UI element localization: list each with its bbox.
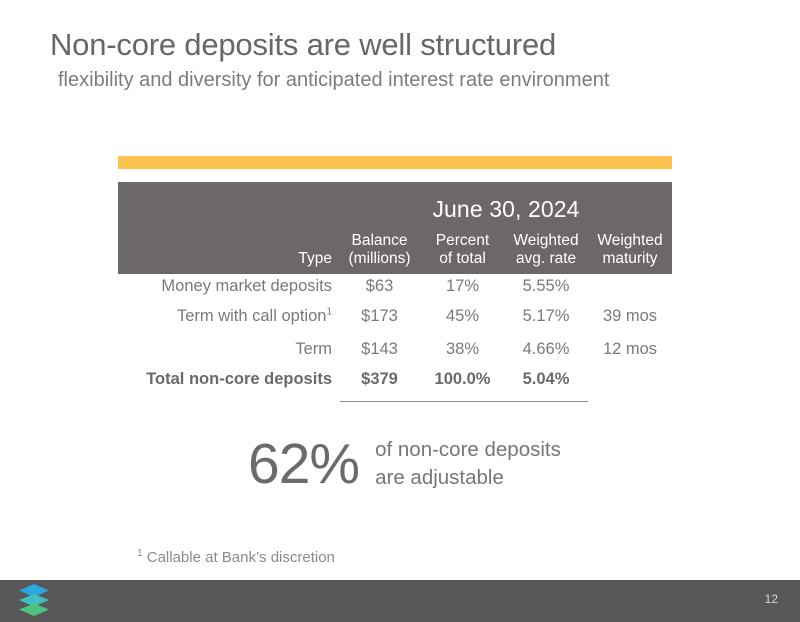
callout-percentage: 62% [248, 436, 359, 493]
callout-block: 62% of non-core deposits are adjustable [248, 436, 561, 493]
page-number: 12 [765, 592, 778, 606]
page-title: Non-core deposits are well structured [50, 28, 750, 63]
footnote-marker: 1 [137, 548, 143, 559]
column-header-balance: Balance (millions) [338, 232, 421, 267]
column-header-weighted-avg-rate: Weighted avg. rate [504, 232, 588, 267]
cell-type: Total non-core deposits [118, 370, 338, 389]
cell-type: Term with call option1 [118, 307, 338, 326]
callout-description: of non-core deposits are adjustable [375, 436, 561, 492]
column-header-weighted-maturity: Weighted maturity [588, 232, 672, 267]
footnote: 1 Callable at Bank’s discretion [137, 549, 335, 566]
page-subtitle: flexibility and diversity for anticipate… [58, 68, 750, 92]
footnote-marker: 1 [326, 307, 332, 318]
cell-percent: 45% [421, 307, 504, 326]
cell-type: Term [118, 340, 338, 359]
cell-balance: $63 [338, 277, 421, 296]
cell-weighted-avg-rate: 5.55% [504, 277, 588, 296]
company-logo-icon [18, 583, 50, 617]
cell-weighted-maturity: 12 mos [588, 340, 672, 359]
cell-percent: 100.0% [421, 370, 504, 389]
total-underline [340, 401, 588, 402]
footnote-text: Callable at Bank’s discretion [147, 549, 335, 566]
cell-percent: 17% [421, 277, 504, 296]
cell-balance: $173 [338, 307, 421, 326]
title-block: Non-core deposits are well structured fl… [50, 28, 750, 92]
accent-bar [118, 156, 672, 169]
footer-bar: 12 [0, 580, 800, 622]
cell-balance: $379 [338, 370, 421, 389]
deposits-table: June 30, 2024 Type Balance (millions) Pe… [118, 156, 672, 400]
cell-balance: $143 [338, 340, 421, 359]
cell-weighted-avg-rate: 5.17% [504, 307, 588, 326]
column-header-percent: Percent of total [421, 232, 504, 267]
table-row: Term with call option1 $173 45% 5.17% 39… [118, 307, 672, 337]
table-total-row: Total non-core deposits $379 100.0% 5.04… [118, 370, 672, 400]
table-row: Term $143 38% 4.66% 12 mos [118, 340, 672, 370]
cell-percent: 38% [421, 340, 504, 359]
cell-weighted-avg-rate: 4.66% [504, 340, 588, 359]
cell-weighted-avg-rate: 5.04% [504, 370, 588, 389]
table-header: June 30, 2024 Type Balance (millions) Pe… [118, 182, 672, 274]
table-column-headers: Type Balance (millions) Percent of total… [118, 232, 672, 267]
cell-type: Money market deposits [118, 277, 338, 296]
cell-weighted-maturity: 39 mos [588, 307, 672, 326]
table-header-date: June 30, 2024 [340, 196, 672, 223]
table-row: Money market deposits $63 17% 5.55% [118, 277, 672, 307]
table-body: Money market deposits $63 17% 5.55% Term… [118, 277, 672, 400]
column-header-type: Type [118, 250, 338, 267]
